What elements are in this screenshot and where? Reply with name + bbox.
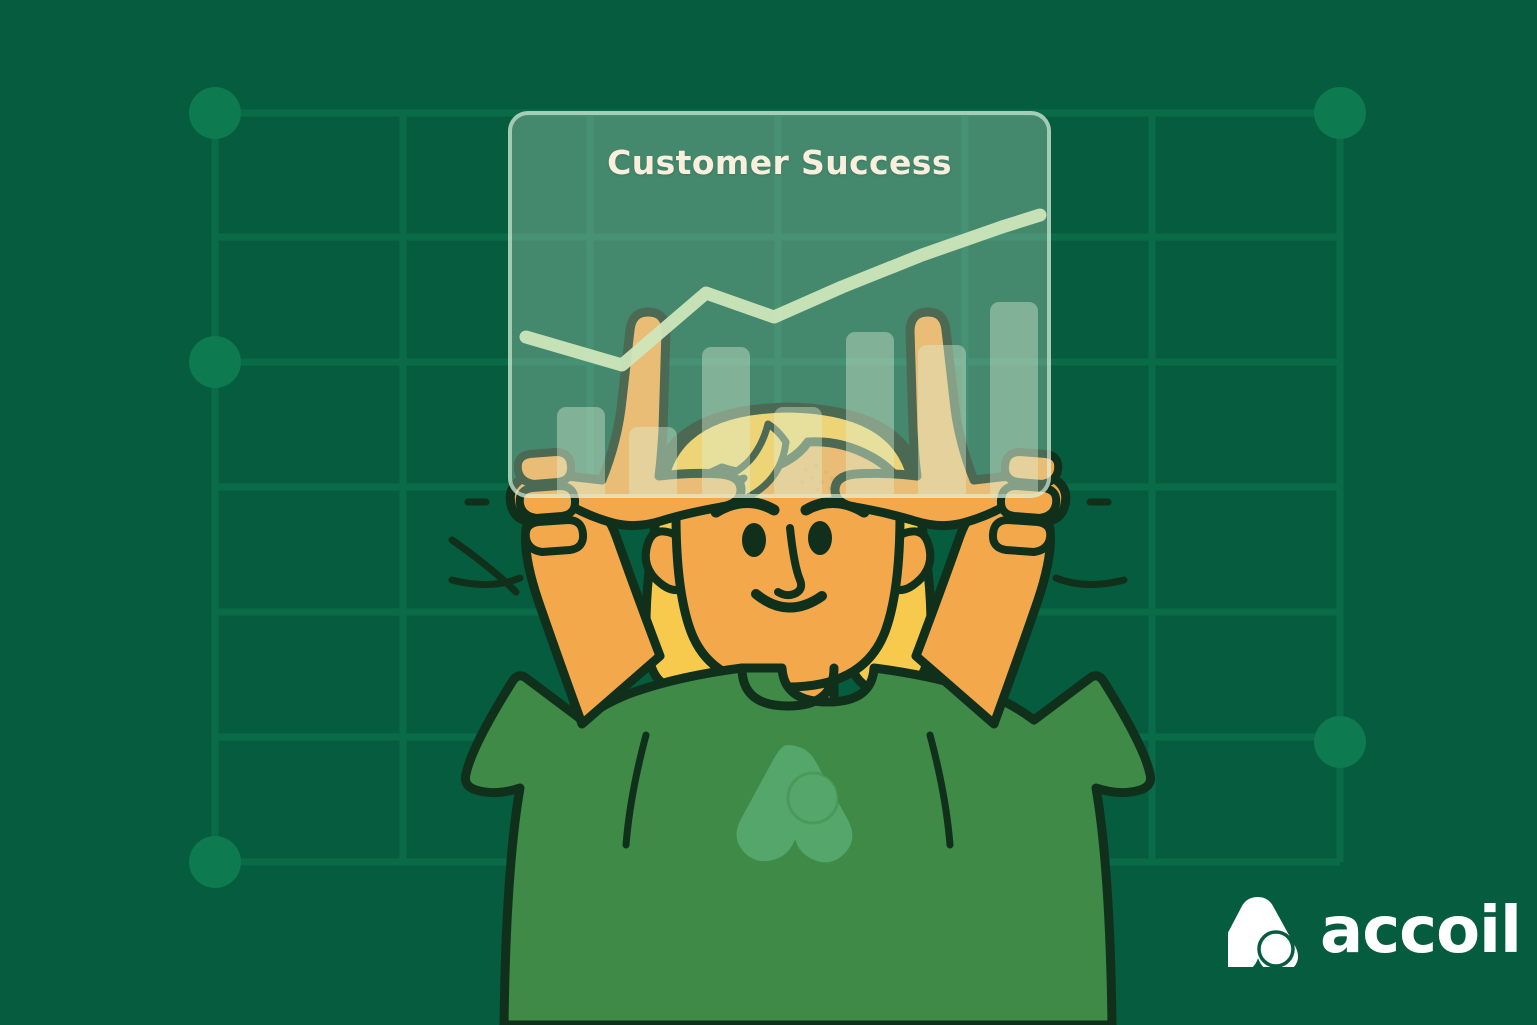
accoil-logo[interactable]: accoil — [1228, 895, 1521, 967]
accoil-wordmark: accoil — [1320, 899, 1521, 963]
eye-left — [742, 523, 766, 557]
chart-trend-line — [512, 115, 1051, 498]
accoil-droplet-circle-icon — [1228, 895, 1306, 967]
eye-right — [808, 521, 832, 555]
bar-chart — [512, 115, 1051, 498]
illustration-canvas: Customer Success accoil — [0, 0, 1537, 1025]
customer-success-hud-card[interactable]: Customer Success — [508, 111, 1051, 498]
